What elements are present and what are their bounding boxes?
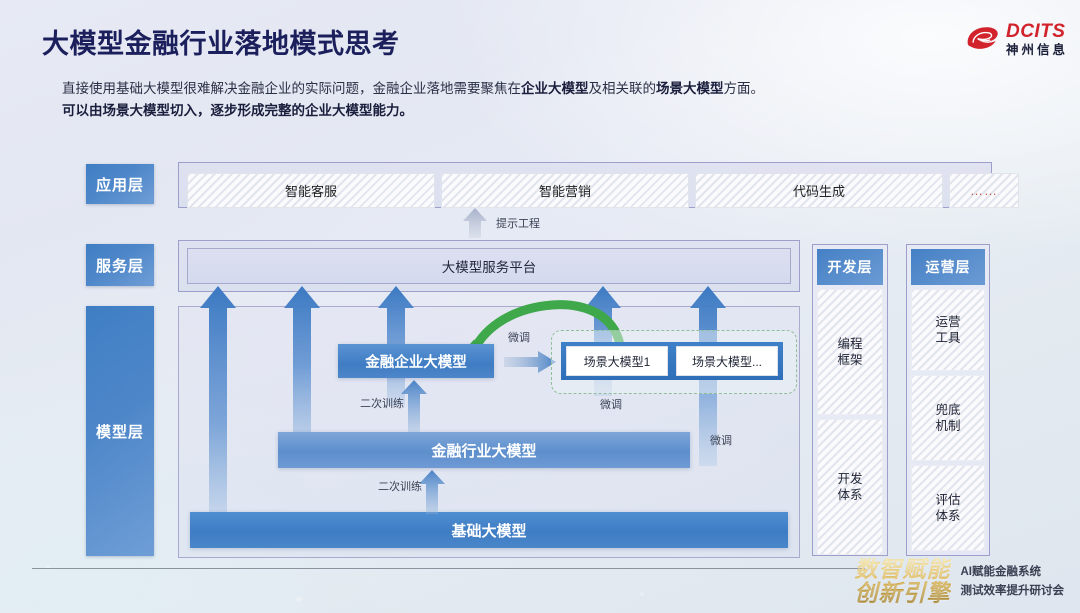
dev-cell-programming-framework[interactable]: 编程框架 xyxy=(817,289,883,415)
industry-model-box[interactable]: 金融行业大模型 xyxy=(278,432,690,468)
app-cell-more[interactable]: …… xyxy=(949,173,1019,208)
ops-cell-evaluation-system[interactable]: 评估体系 xyxy=(911,465,985,551)
event-gold-line-2: 创新引擎 xyxy=(855,582,951,605)
note-retrain-2: 二次训练 xyxy=(378,478,422,494)
scenario-model-label: 场景大模型1 xyxy=(584,353,651,370)
event-subtitle: AI赋能金融系统 测试效率提升研讨会 xyxy=(961,565,1065,599)
base-model-label: 基础大模型 xyxy=(451,520,526,541)
finetune-arrow-icon xyxy=(504,350,556,374)
bokeh-spark xyxy=(640,592,644,596)
note-finetune-2: 微调 xyxy=(600,396,622,412)
service-platform-label: 大模型服务平台 xyxy=(442,256,537,276)
event-sub-line-2: 测试效率提升研讨会 xyxy=(961,584,1065,598)
operations-layer-column: 运营层 运营工具 兜底机制 评估体系 xyxy=(906,244,990,556)
layer-label-service-text: 服务层 xyxy=(96,255,144,276)
logo-en-text: DCITS xyxy=(1006,22,1068,41)
layer-label-model-text: 模型层 xyxy=(96,421,144,442)
operations-layer-header-text: 运营层 xyxy=(926,257,971,277)
enterprise-model-box[interactable]: 金融企业大模型 xyxy=(338,344,494,378)
layer-label-model: 模型层 xyxy=(86,306,154,556)
event-branding: 数智赋能 创新引擎 AI赋能金融系统 测试效率提升研讨会 xyxy=(855,558,1065,605)
dev-cell-development-system[interactable]: 开发体系 xyxy=(817,419,883,555)
event-gold-line-1: 数智赋能 xyxy=(855,558,951,581)
dcits-logo-text: DCITS 神州信息 xyxy=(1006,22,1068,57)
application-layer-panel: 智能客服 智能营销 代码生成 …… xyxy=(178,162,992,208)
subtitle-part-2: 及相关联的 xyxy=(589,81,657,96)
bokeh-spark xyxy=(296,596,302,602)
slide-root: 大模型金融行业落地模式思考 直接使用基础大模型很难解决金融企业的实际问题，金融企… xyxy=(0,0,1080,613)
ops-cell-label: 兜底机制 xyxy=(935,402,960,434)
operations-layer-header: 运营层 xyxy=(911,249,985,285)
dev-cell-label: 编程框架 xyxy=(837,336,862,368)
note-finetune-3: 微调 xyxy=(710,432,732,448)
ops-cell-label: 评估体系 xyxy=(935,492,960,524)
enterprise-model-label: 金融企业大模型 xyxy=(365,351,467,372)
dcits-logo: DCITS 神州信息 xyxy=(965,22,1068,57)
dcits-swirl-icon xyxy=(965,23,1001,55)
scenario-model-2[interactable]: 场景大模型... xyxy=(676,346,778,376)
event-gold-title: 数智赋能 创新引擎 xyxy=(855,558,951,605)
subtitle-part-1: 直接使用基础大模型很难解决金融企业的实际问题，金融企业落地需要聚焦在 xyxy=(62,81,521,96)
scenario-models-bar: 场景大模型1 场景大模型... xyxy=(561,342,783,380)
service-platform-box[interactable]: 大模型服务平台 xyxy=(187,248,791,284)
app-cell-smart-marketing[interactable]: 智能营销 xyxy=(441,173,689,208)
layer-label-application-text: 应用层 xyxy=(96,174,144,195)
app-cell-label: 智能客服 xyxy=(285,181,337,200)
layer-label-service: 服务层 xyxy=(86,244,154,286)
prompt-engineering-arrow-icon xyxy=(462,208,488,238)
footer-divider xyxy=(32,568,865,569)
note-prompt-engineering: 提示工程 xyxy=(496,215,540,231)
page-title: 大模型金融行业落地模式思考 xyxy=(42,22,400,61)
subtitle-part-3: 方面。 xyxy=(724,81,765,96)
scenario-model-label: 场景大模型... xyxy=(692,353,762,370)
ops-cell-fallback-mechanism[interactable]: 兜底机制 xyxy=(911,375,985,461)
subtitle-line-2: 可以由场景大模型切入，逐步形成完整的企业大模型能力。 xyxy=(62,100,922,122)
app-cell-label: 代码生成 xyxy=(793,181,845,200)
event-sub-line-1: AI赋能金融系统 xyxy=(961,565,1065,579)
base-model-box[interactable]: 基础大模型 xyxy=(190,512,788,548)
note-finetune-1: 微调 xyxy=(508,329,530,345)
industry-model-label: 金融行业大模型 xyxy=(431,440,536,461)
app-cell-label: …… xyxy=(970,183,998,198)
layer-label-application: 应用层 xyxy=(86,164,154,204)
retrain-arrow-1-icon xyxy=(400,380,428,432)
note-retrain-1: 二次训练 xyxy=(360,395,404,411)
subtitle-highlight-1: 企业大模型 xyxy=(521,81,589,96)
development-layer-header-text: 开发层 xyxy=(828,257,873,277)
scenario-model-1[interactable]: 场景大模型1 xyxy=(566,346,668,376)
app-cell-smart-service[interactable]: 智能客服 xyxy=(187,173,435,208)
retrain-arrow-2-icon xyxy=(418,470,446,514)
dev-cell-label: 开发体系 xyxy=(837,471,862,503)
logo-cn-text: 神州信息 xyxy=(1006,44,1068,57)
app-cell-code-generation[interactable]: 代码生成 xyxy=(695,173,943,208)
page-subtitle: 直接使用基础大模型很难解决金融企业的实际问题，金融企业落地需要聚焦在企业大模型及… xyxy=(62,78,922,122)
ops-cell-operation-tools[interactable]: 运营工具 xyxy=(911,289,985,371)
development-layer-column: 开发层 编程框架 开发体系 xyxy=(812,244,888,556)
development-layer-header: 开发层 xyxy=(817,249,883,285)
ops-cell-label: 运营工具 xyxy=(935,314,960,346)
subtitle-highlight-2: 场景大模型 xyxy=(656,81,724,96)
app-cell-label: 智能营销 xyxy=(539,181,591,200)
service-layer-panel: 大模型服务平台 xyxy=(178,240,800,292)
